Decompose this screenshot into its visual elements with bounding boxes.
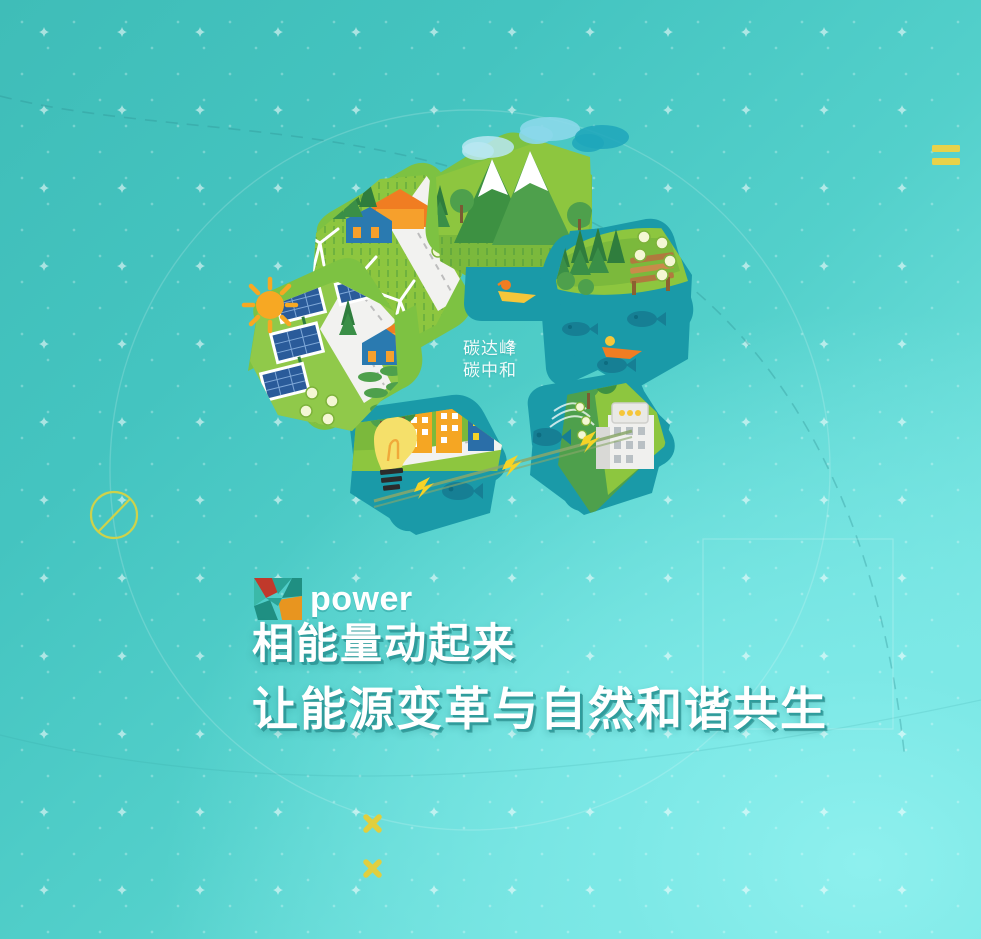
brand-lockup: power xyxy=(252,576,413,622)
scene-hydro-power-plant xyxy=(520,365,690,535)
center-label-line2: 碳中和 xyxy=(430,360,550,382)
sun-icon xyxy=(244,279,296,331)
headline-line-1: 相能量动起来 xyxy=(252,618,952,670)
brand-wordmark: power xyxy=(310,582,413,616)
center-label: 碳达峰 碳中和 xyxy=(430,338,550,382)
x-logo xyxy=(252,576,304,622)
headline: 相能量动起来 让能源变革与自然和谐共生 xyxy=(252,618,952,738)
carbon-neutrality-poster: 碳达峰 碳中和 power 相能量动起来 让能源变革与自然和谐共生 xyxy=(0,0,981,939)
headline-line-2: 让能源变革与自然和谐共生 xyxy=(252,680,952,738)
center-label-line1: 碳达峰 xyxy=(430,338,550,360)
